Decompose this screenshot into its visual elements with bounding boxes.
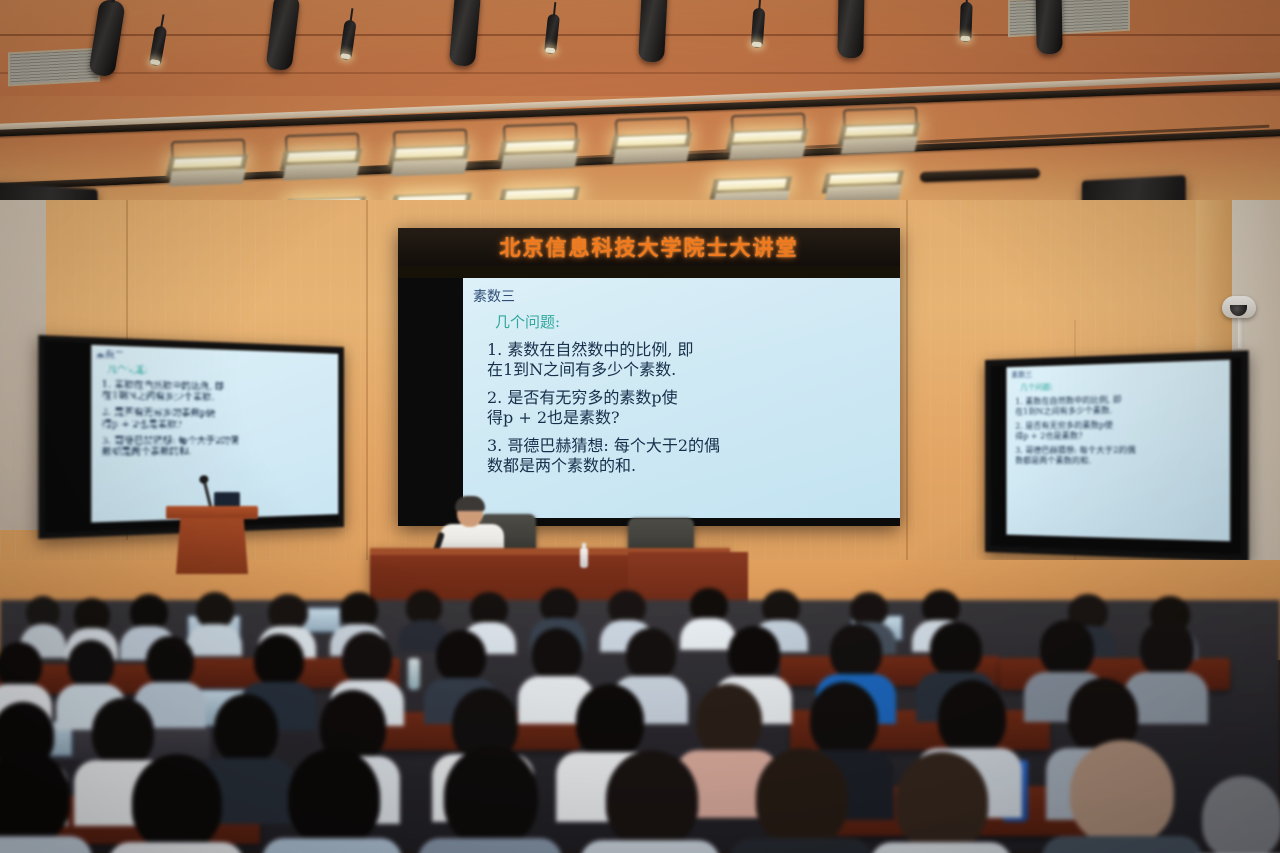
stage-flood-light (611, 127, 690, 170)
ceiling-seam (0, 72, 1280, 74)
stage-flood-light (839, 117, 918, 160)
slide-item-line: 1. 素数在自然数中的比例, 即 (487, 340, 892, 360)
audience-member (108, 754, 244, 853)
audience-member (870, 752, 1012, 853)
left-slide-item: 1. 素数在自然数中的比例, 即在1到N之间有多少个素数. (102, 380, 338, 406)
audience-member (1042, 740, 1202, 853)
audience-member (580, 750, 720, 853)
stage-flood-light (499, 133, 578, 176)
audience-member (262, 748, 402, 853)
audience-member (0, 750, 92, 853)
audience-area: New Bala (0, 600, 1280, 853)
slide-content: 素数三 几个问题: 1. 素数在自然数中的比例, 即 在1到N之间有多少个素数.… (463, 278, 900, 518)
right-projection-screen: 素数三 几个问题: 1. 素数在自然数中的比例, 即在1到N之间有多少个素数. … (985, 350, 1249, 561)
slide-item-line: 3. 哥德巴赫猜想: 每个大于2的偶 (487, 436, 892, 456)
venue-banner: 北京信息科技大学院士大讲堂 (398, 228, 900, 268)
left-slide-item: 3. 哥德巴赫猜想: 每个大于2的偶数都是两个素数的和. (102, 436, 338, 459)
wall-seam (906, 200, 908, 566)
ceiling-vent (8, 48, 100, 87)
left-slide-item: 2. 是否有无穷多的素数p使得p + 2也是素数? (102, 408, 338, 431)
wall-seam (366, 200, 368, 566)
audience-member (730, 748, 872, 853)
right-slide-item: 2. 是否有无穷多的素数p使得p + 2也是素数? (1015, 419, 1230, 441)
audience-member (418, 746, 562, 853)
hanging-spotlight (837, 0, 864, 58)
right-slide-content: 素数三 几个问题: 1. 素数在自然数中的比例, 即在1到N之间有多少个素数. … (1006, 360, 1230, 542)
stage-flood-light (727, 123, 806, 166)
right-slide-item: 3. 哥德巴赫猜想: 每个大于2的偶数都是两个素数的和. (1015, 445, 1230, 466)
dome-camera-icon (1222, 296, 1256, 318)
slide-item-line: 2. 是否有无穷多的素数p使 (487, 388, 892, 408)
stage-flood-light (167, 149, 246, 192)
right-slide-item: 1. 素数在自然数中的比例, 即在1到N之间有多少个素数. (1015, 393, 1230, 417)
slide-title: 素数三 (473, 286, 892, 306)
track-spotlight (959, 2, 972, 42)
water-bottle (408, 658, 420, 690)
stage-flood-light (281, 143, 360, 186)
main-projection-screen: 北京信息科技大学院士大讲堂 素数三 几个问题: 1. 素数在自然数中的比例, 即… (398, 228, 900, 526)
audience-member (1182, 776, 1280, 853)
hanging-spotlight (638, 0, 668, 63)
lectern (166, 506, 258, 574)
slide-item-line: 得p + 2也是素数? (487, 408, 892, 428)
lecture-hall-photo: 北京信息科技大学院士大讲堂 素数三 几个问题: 1. 素数在自然数中的比例, 即… (0, 0, 1280, 853)
slide-item-line: 在1到N之间有多少个素数. (487, 360, 892, 380)
venue-banner-text: 北京信息科技大学院士大讲堂 (500, 232, 799, 262)
hanging-spotlight (1035, 0, 1062, 54)
slide-item: 1. 素数在自然数中的比例, 即 在1到N之间有多少个素数. (487, 340, 892, 379)
slide-subtitle: 几个问题: (495, 311, 892, 332)
stage-flood-light (389, 139, 468, 182)
slide-item: 2. 是否有无穷多的素数p使 得p + 2也是素数? (487, 388, 892, 427)
screen-bezel-gap (398, 266, 900, 278)
ceiling-vent (1008, 0, 1130, 37)
water-cup (580, 548, 588, 568)
slide-item: 3. 哥德巴赫猜想: 每个大于2的偶 数都是两个素数的和. (487, 436, 892, 475)
slide-item-line: 数都是两个素数的和. (487, 456, 892, 476)
